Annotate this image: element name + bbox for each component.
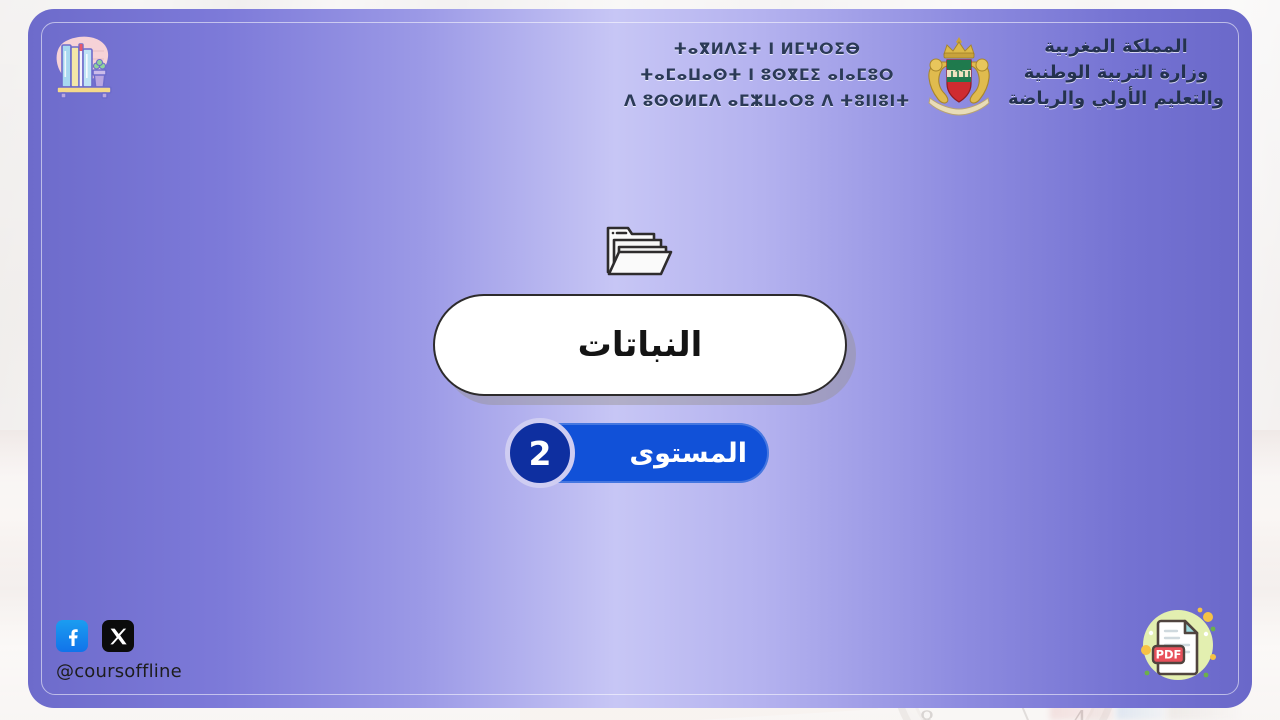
level-number-circle: 2 [505, 418, 575, 488]
social-links: @coursoffline [56, 620, 182, 682]
page-title: النباتات [578, 325, 703, 365]
svg-text:PDF: PDF [1156, 648, 1182, 662]
bookshelf-icon [48, 33, 114, 109]
social-icon-row [56, 620, 182, 652]
pdf-file-icon[interactable]: PDF [1134, 600, 1222, 688]
ministry-name-tifinagh: ⵜⴰⴳⵍⴷⵉⵜ ⵏ ⵍⵎⵖⵔⵉⴱ ⵜⴰⵎⴰⵡⴰⵙⵜ ⵏ ⵓⵙⴳⵎⵉ ⴰⵏⴰⵎⵓⵔ… [624, 36, 910, 114]
slide-canvas: 12 1 2 3 4 5 6 7 8 9 10 11 [0, 0, 1280, 720]
level-badge[interactable]: 2 المستوى [511, 423, 769, 483]
x-twitter-icon[interactable] [102, 620, 134, 652]
slide-main-content: النباتات 2 المستوى [0, 222, 1280, 483]
background-book-stack [520, 494, 880, 720]
clock-minute-hand [934, 620, 1006, 667]
clock-numeral: 8 [914, 706, 940, 720]
moroccan-coat-of-arms-icon [922, 34, 996, 118]
ministry-arabic-line-2: وزارة التربية الوطنية [1008, 60, 1224, 86]
level-number: 2 [529, 437, 552, 470]
ministry-tifinagh-line-2: ⵜⴰⵎⴰⵡⴰⵙⵜ ⵏ ⵓⵙⴳⵎⵉ ⴰⵏⴰⵎⵓⵔ [624, 62, 910, 88]
ministry-arabic-line-1: المملكة المغربية [1008, 34, 1224, 60]
level-label: المستوى [629, 438, 747, 469]
clock-numeral: 2 [1067, 620, 1093, 649]
clock-center-pin [998, 659, 1013, 674]
ministry-tifinagh-line-3: ⴷ ⵓⵙⵙⵍⵎⴷ ⴰⵎⵣⵡⴰⵔⵓ ⴷ ⵜⵓⵏⵏⵓⵏⵜ [624, 88, 910, 114]
social-handle: @coursoffline [56, 661, 182, 682]
facebook-icon[interactable] [56, 620, 88, 652]
clock-numeral: 4 [1067, 706, 1093, 720]
clock-numeral: 12 [989, 573, 1015, 602]
clock-numeral: 11 [945, 586, 971, 615]
open-folder-icon [603, 222, 677, 284]
ministry-arabic-line-3: والتعليم الأولي والرياضة [1008, 86, 1224, 112]
clock-numeral: 1 [1035, 586, 1061, 615]
clock-numeral: 3 [1079, 664, 1105, 693]
lesson-title-card[interactable]: النباتات [433, 294, 847, 396]
ministry-name-arabic: المملكة المغربية وزارة التربية الوطنية و… [1008, 34, 1224, 112]
ministry-tifinagh-line-1: ⵜⴰⴳⵍⴷⵉⵜ ⵏ ⵍⵎⵖⵔⵉⴱ [624, 36, 910, 62]
slide-header: ⵜⴰⴳⵍⴷⵉⵜ ⵏ ⵍⵎⵖⵔⵉⴱ ⵜⴰⵎⴰⵡⴰⵙⵜ ⵏ ⵓⵙⴳⵎⵉ ⴰⵏⴰⵎⵓⵔ… [0, 0, 1280, 140]
clock-numeral: 9 [903, 664, 929, 693]
clock-second-hand [1004, 665, 1039, 720]
alarm-clock-decor: 12 1 2 3 4 5 6 7 8 9 10 11 [880, 520, 1130, 720]
ministry-identity: ⵜⴰⴳⵍⴷⵉⵜ ⵏ ⵍⵎⵖⵔⵉⴱ ⵜⴰⵎⴰⵡⴰⵙⵜ ⵏ ⵓⵙⴳⵎⵉ ⴰⵏⴰⵎⵓⵔ… [624, 34, 1224, 118]
